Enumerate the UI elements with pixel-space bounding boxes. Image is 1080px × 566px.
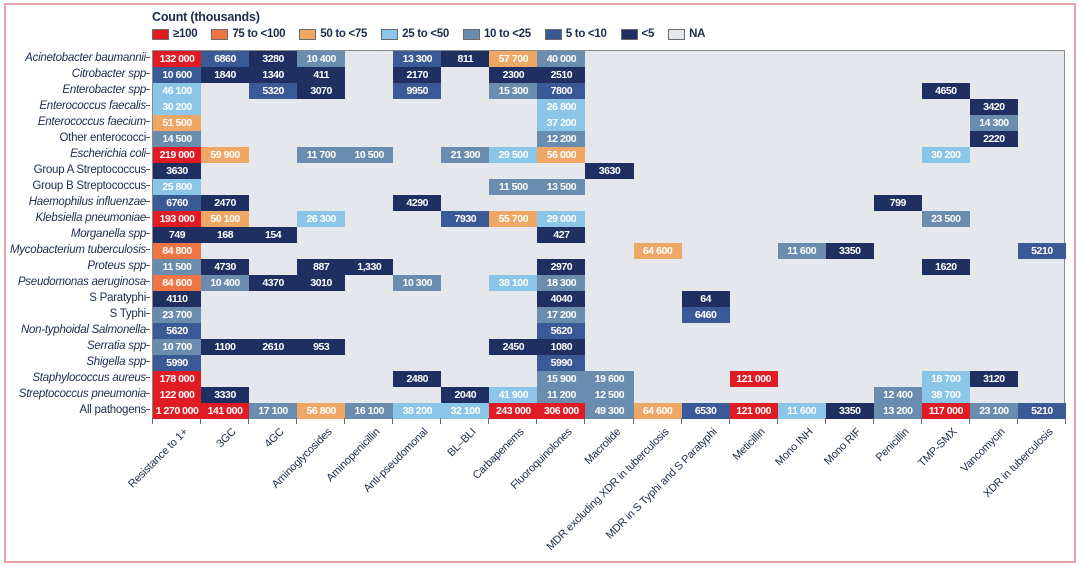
heatmap-cell[interactable]: 141 000 [201, 403, 249, 419]
heatmap-cell[interactable]: 10 700 [153, 339, 201, 355]
heatmap-cell[interactable]: 46 100 [153, 83, 201, 99]
heatmap-cell[interactable]: 11 200 [537, 387, 585, 403]
heatmap-cell[interactable]: 15 300 [489, 83, 537, 99]
column-tick-icon [296, 418, 297, 424]
row-label: S Paratyphi [89, 290, 146, 306]
heatmap-cell[interactable]: 6860 [201, 51, 249, 67]
heatmap-cell[interactable]: 122 000 [153, 387, 201, 403]
heatmap-cell[interactable]: 11 500 [153, 259, 201, 275]
row-label-text: Pseudomonas aeruginosa [18, 276, 146, 288]
row-label-text: Morganella spp [71, 228, 146, 240]
legend-item: 25 to <50 [381, 28, 449, 40]
heatmap-cell[interactable]: 219 000 [153, 147, 201, 163]
legend-label: 50 to <75 [320, 28, 367, 40]
heatmap-cell[interactable]: 5210 [1018, 403, 1066, 419]
heatmap-cell[interactable]: 1620 [922, 259, 970, 275]
heatmap-cell[interactable]: 4370 [249, 275, 297, 291]
heatmap-cell[interactable]: 2510 [537, 67, 585, 83]
heatmap-cell[interactable]: 5320 [249, 83, 297, 99]
heatmap-cell[interactable]: 2170 [393, 67, 441, 83]
heatmap-cell[interactable]: 2970 [537, 259, 585, 275]
heatmap-cell[interactable]: 11 500 [489, 179, 537, 195]
row-label-text: Citrobacter spp [72, 68, 146, 80]
heatmap-cell[interactable]: 2040 [441, 387, 489, 403]
column-tick-icon [633, 418, 634, 424]
row-tick-icon [146, 249, 150, 250]
row-tick-icon [146, 169, 150, 170]
figure-canvas: Count (thousands) ≥10075 to <10050 to <7… [0, 0, 1080, 566]
row-label-text: Staphylococcus aureus [32, 372, 146, 384]
row-label-axis: Acinetobacter baumanniiCitrobacter sppEn… [0, 50, 150, 418]
column-tick-marks [152, 418, 1065, 424]
heatmap-cell[interactable]: 427 [537, 227, 585, 243]
legend-label: 75 to <100 [232, 28, 285, 40]
heatmap-cell[interactable]: 4290 [393, 195, 441, 211]
heatmap-cell[interactable]: 1100 [201, 339, 249, 355]
heatmap-cell[interactable]: 19 600 [585, 371, 633, 387]
column-label: Vancomycin [959, 426, 1008, 475]
legend-label: <5 [642, 28, 655, 40]
heatmap-cell[interactable]: 23 700 [153, 307, 201, 323]
heatmap-cell[interactable]: 1840 [201, 67, 249, 83]
heatmap-cell[interactable]: 7930 [441, 211, 489, 227]
heatmap-cell[interactable]: 2220 [970, 131, 1018, 147]
legend-label: NA [689, 28, 705, 40]
column-label-axis: Resistance to 1+3GC4GCAminoglycosidesAmi… [0, 418, 1080, 558]
row-label: Other enterococci [59, 130, 146, 146]
row-tick-icon [146, 153, 150, 154]
heatmap-cell[interactable]: 3070 [297, 83, 345, 99]
column-tick-icon [536, 418, 537, 424]
heatmap-cell[interactable]: 26 800 [537, 99, 585, 115]
heatmap-cell[interactable]: 1080 [537, 339, 585, 355]
heatmap-cell[interactable]: 38 100 [489, 275, 537, 291]
heatmap-cell[interactable]: 3350 [826, 243, 874, 259]
legend-item: 10 to <25 [463, 28, 531, 40]
heatmap-cell[interactable]: 49 300 [585, 403, 633, 419]
legend-swatch-icon [299, 29, 316, 40]
heatmap-cell[interactable]: 30 200 [153, 99, 201, 115]
heatmap-cell[interactable]: 7800 [537, 83, 585, 99]
heatmap-cell[interactable]: 10 600 [153, 67, 201, 83]
row-label: Group A Streptococcus [34, 162, 146, 178]
legend-item: ≥100 [152, 28, 197, 40]
heatmap-cell[interactable]: 3630 [585, 163, 633, 179]
legend-items: ≥10075 to <10050 to <7525 to <5010 to <2… [152, 28, 1072, 40]
column-tick-icon [969, 418, 970, 424]
heatmap-cell[interactable]: 11 600 [778, 243, 826, 259]
heatmap-cell[interactable]: 16 100 [345, 403, 393, 419]
column-tick-icon [1065, 418, 1066, 424]
heatmap-cell[interactable]: 168 [201, 227, 249, 243]
heatmap-cell[interactable]: 3120 [970, 371, 1018, 387]
legend: Count (thousands) ≥10075 to <10050 to <7… [152, 10, 1072, 40]
column-label: Mono RIF [822, 426, 864, 468]
heatmap-cell[interactable]: 23 500 [922, 211, 970, 227]
heatmap-cell[interactable]: 32 100 [441, 403, 489, 419]
heatmap-cell[interactable]: 10 500 [345, 147, 393, 163]
heatmap-cell[interactable]: 3330 [201, 387, 249, 403]
heatmap-cell[interactable]: 50 100 [201, 211, 249, 227]
column-tick-icon [681, 418, 682, 424]
row-label-text: Serratia spp [87, 340, 146, 352]
heatmap-cell[interactable]: 154 [249, 227, 297, 243]
heatmap-cell[interactable]: 811 [441, 51, 489, 67]
row-label-text: Enterococcus faecalis [39, 100, 146, 112]
column-label: Penicillin [874, 426, 912, 464]
row-tick-icon [146, 137, 150, 138]
legend-item: <5 [621, 28, 655, 40]
column-label: TMP-SMX [916, 426, 959, 469]
heatmap-cell[interactable]: 30 200 [922, 147, 970, 163]
heatmap-cell[interactable]: 2300 [489, 67, 537, 83]
heatmap-cell[interactable]: 64 600 [634, 403, 682, 419]
row-tick-icon [146, 57, 150, 58]
row-label-text: Klebsiella pneumoniae [36, 212, 146, 224]
row-label: Morganella spp [71, 226, 146, 242]
heatmap-cell[interactable]: 3420 [970, 99, 1018, 115]
heatmap-cell[interactable]: 243 000 [489, 403, 537, 419]
heatmap-cell[interactable]: 749 [153, 227, 201, 243]
heatmap-cell[interactable]: 17 100 [249, 403, 297, 419]
column-label: BL–BLI [446, 426, 479, 459]
heatmap-cell[interactable]: 11 600 [778, 403, 826, 419]
column-tick-icon [825, 418, 826, 424]
row-label: Mycobacterium tuberculosis [10, 242, 146, 258]
heatmap-cell[interactable]: 799 [874, 195, 922, 211]
row-label: Pseudomonas aeruginosa [18, 274, 146, 290]
column-tick-icon [584, 418, 585, 424]
row-tick-icon [146, 329, 150, 330]
row-label-text: Group A Streptococcus [34, 164, 146, 176]
heatmap-cell[interactable]: 887 [297, 259, 345, 275]
column-label: Macrolide [582, 426, 623, 467]
column-label: 3GC [214, 426, 238, 450]
column-label: Meticillin [730, 426, 767, 463]
legend-label: ≥100 [173, 28, 197, 40]
column-label: Resistance to 1+ [126, 426, 190, 490]
heatmap-cell[interactable]: 84 800 [153, 243, 201, 259]
heatmap-cell[interactable]: 41 900 [489, 387, 537, 403]
heatmap-cell[interactable]: 411 [297, 67, 345, 83]
column-tick-icon [1017, 418, 1018, 424]
heatmap-cell[interactable]: 1,330 [345, 259, 393, 275]
row-label-text: Haemophilus influenzae [29, 196, 146, 208]
heatmap-cell[interactable]: 15 900 [537, 371, 585, 387]
column-tick-icon [344, 418, 345, 424]
heatmap-cell[interactable]: 2470 [201, 195, 249, 211]
heatmap-cell[interactable]: 12 400 [874, 387, 922, 403]
row-label: Enterococcus faecalis [39, 98, 146, 114]
heatmap-cell[interactable]: 37 200 [537, 115, 585, 131]
legend-swatch-icon [381, 29, 398, 40]
row-label: Non-typhoidal Salmonella [21, 322, 146, 338]
heatmap-cell[interactable]: 56 000 [537, 147, 585, 163]
heatmap-cell[interactable]: 51 500 [153, 115, 201, 131]
legend-item: NA [668, 28, 705, 40]
heatmap-cell[interactable]: 193 000 [153, 211, 201, 227]
heatmap-cell[interactable]: 11 700 [297, 147, 345, 163]
heatmap-cell[interactable]: 17 200 [537, 307, 585, 323]
column-tick-icon [152, 418, 153, 424]
row-label-text: Group B Streptococcus [32, 180, 146, 192]
heatmap-cell[interactable]: 4650 [922, 83, 970, 99]
row-tick-icon [146, 233, 150, 234]
heatmap-cell[interactable]: 3350 [826, 403, 874, 419]
heatmap-cell[interactable]: 121 000 [730, 403, 778, 419]
row-label: Enterococcus faecium [38, 114, 146, 130]
heatmap-cell[interactable]: 64 600 [634, 243, 682, 259]
row-tick-icon [146, 409, 150, 410]
heatmap-cell[interactable]: 29 000 [537, 211, 585, 227]
row-label: Escherichia coli [70, 146, 146, 162]
heatmap-cell[interactable]: 18 300 [537, 275, 585, 291]
row-label: Haemophilus influenzae [29, 194, 146, 210]
legend-label: 5 to <10 [566, 28, 607, 40]
heatmap-cell[interactable]: 9950 [393, 83, 441, 99]
heatmap-cell[interactable]: 29 500 [489, 147, 537, 163]
heatmap-cell[interactable]: 14 500 [153, 131, 201, 147]
row-label-text: S Paratyphi [89, 292, 146, 304]
heatmap-cell[interactable]: 178 000 [153, 371, 201, 387]
row-tick-icon [146, 345, 150, 346]
row-label: Citrobacter spp [72, 66, 146, 82]
heatmap-cell[interactable]: 5620 [153, 323, 201, 339]
row-tick-icon [146, 377, 150, 378]
row-tick-icon [146, 73, 150, 74]
heatmap-cell[interactable]: 12 200 [537, 131, 585, 147]
row-tick-icon [146, 185, 150, 186]
heatmap-grid: 132 0006860328010 40013 30081157 70040 0… [152, 50, 1065, 418]
row-tick-icon [146, 297, 150, 298]
heatmap-cell[interactable]: 23 100 [970, 403, 1018, 419]
heatmap-cell[interactable]: 56 800 [297, 403, 345, 419]
column-tick-icon [488, 418, 489, 424]
heatmap-cell[interactable]: 38 200 [393, 403, 441, 419]
column-tick-icon [200, 418, 201, 424]
row-tick-icon [146, 313, 150, 314]
row-label-text: Enterococcus faecium [38, 116, 146, 128]
row-label-text: Proteus spp [87, 260, 146, 272]
row-label-text: Acinetobacter baumannii [25, 52, 146, 64]
row-label: Enterobacter spp [62, 82, 146, 98]
heatmap-cell[interactable]: 84 600 [153, 275, 201, 291]
heatmap-cell[interactable]: 1 270 000 [153, 403, 201, 419]
column-tick-icon [921, 418, 922, 424]
column-tick-icon [873, 418, 874, 424]
heatmap-cell[interactable]: 10 400 [297, 51, 345, 67]
row-tick-icon [146, 105, 150, 106]
heatmap-cell[interactable]: 3630 [153, 163, 201, 179]
heatmap-cell[interactable]: 1340 [249, 67, 297, 83]
row-tick-icon [146, 201, 150, 202]
column-tick-icon [777, 418, 778, 424]
column-label: 4GC [263, 426, 287, 450]
heatmap-cell[interactable]: 3280 [249, 51, 297, 67]
legend-item: 75 to <100 [211, 28, 285, 40]
heatmap-cell[interactable]: 132 000 [153, 51, 201, 67]
row-label: Serratia spp [87, 338, 146, 354]
heatmap-cell[interactable]: 4110 [153, 291, 201, 307]
row-label: Klebsiella pneumoniae [36, 210, 146, 226]
row-label-text: All pathogens [80, 404, 146, 416]
heatmap-cell[interactable]: 117 000 [922, 403, 970, 419]
heatmap-cell[interactable]: 953 [297, 339, 345, 355]
heatmap-cell[interactable]: 3010 [297, 275, 345, 291]
legend-swatch-icon [668, 29, 685, 40]
heatmap-cell[interactable]: 26 300 [297, 211, 345, 227]
row-label-text: Mycobacterium tuberculosis [10, 244, 146, 256]
heatmap-cell[interactable]: 38 700 [922, 387, 970, 403]
row-tick-icon [146, 217, 150, 218]
row-tick-icon [146, 393, 150, 394]
row-tick-icon [146, 265, 150, 266]
legend-swatch-icon [621, 29, 638, 40]
heatmap-cell[interactable]: 5990 [153, 355, 201, 371]
legend-swatch-icon [152, 29, 169, 40]
row-tick-icon [146, 89, 150, 90]
legend-swatch-icon [463, 29, 480, 40]
row-label: All pathogens [80, 402, 146, 418]
heatmap-cell[interactable]: 2450 [489, 339, 537, 355]
row-label-text: Non-typhoidal Salmonella [21, 324, 146, 336]
legend-swatch-icon [211, 29, 228, 40]
heatmap-cell[interactable]: 14 300 [970, 115, 1018, 131]
heatmap-cell[interactable]: 18 700 [922, 371, 970, 387]
legend-swatch-icon [545, 29, 562, 40]
heatmap-cell[interactable]: 121 000 [730, 371, 778, 387]
row-label-text: Enterobacter spp [62, 84, 146, 96]
heatmap-cell[interactable]: 6760 [153, 195, 201, 211]
column-tick-icon [248, 418, 249, 424]
heatmap-cell[interactable]: 10 300 [393, 275, 441, 291]
heatmap-cell[interactable]: 13 300 [393, 51, 441, 67]
row-tick-icon [146, 121, 150, 122]
heatmap-cell[interactable]: 21 300 [441, 147, 489, 163]
row-label: Staphylococcus aureus [32, 370, 146, 386]
row-tick-icon [146, 281, 150, 282]
legend-label: 10 to <25 [484, 28, 531, 40]
heatmap-cell[interactable]: 6460 [682, 307, 730, 323]
heatmap-cell[interactable]: 10 400 [201, 275, 249, 291]
heatmap-cell[interactable]: 306 000 [537, 403, 585, 419]
row-label: Streptococcus pneumonia [19, 386, 146, 402]
row-label: Proteus spp [87, 258, 146, 274]
column-label: Mono INH [773, 426, 815, 468]
heatmap-cell[interactable]: 5990 [537, 355, 585, 371]
heatmap-cell[interactable]: 4730 [201, 259, 249, 275]
heatmap-cell[interactable]: 64 [682, 291, 730, 307]
column-tick-icon [440, 418, 441, 424]
row-label: S Typhi [110, 306, 146, 322]
heatmap-cell[interactable]: 55 700 [489, 211, 537, 227]
heatmap-cell[interactable]: 5210 [1018, 243, 1066, 259]
row-label: Acinetobacter baumannii [25, 50, 146, 66]
legend-item: 50 to <75 [299, 28, 367, 40]
legend-label: 25 to <50 [402, 28, 449, 40]
row-label-text: Escherichia coli [70, 148, 146, 160]
heatmap-cell[interactable]: 6530 [682, 403, 730, 419]
heatmap-cell[interactable]: 2610 [249, 339, 297, 355]
column-tick-icon [392, 418, 393, 424]
row-label-text: S Typhi [110, 308, 146, 320]
heatmap-cell[interactable]: 13 200 [874, 403, 922, 419]
row-label: Group B Streptococcus [32, 178, 146, 194]
heatmap-cell[interactable]: 59 900 [201, 147, 249, 163]
legend-item: 5 to <10 [545, 28, 607, 40]
row-label-text: Streptococcus pneumonia [19, 388, 146, 400]
heatmap-cell[interactable]: 40 000 [537, 51, 585, 67]
row-label-text: Other enterococci [59, 132, 146, 144]
heatmap-cell[interactable]: 5620 [537, 323, 585, 339]
heatmap-cell[interactable]: 12 500 [585, 387, 633, 403]
row-label-text: Shigella spp [86, 356, 146, 368]
row-label: Shigella spp [86, 354, 146, 370]
legend-title: Count (thousands) [152, 10, 1072, 24]
heatmap-cell[interactable]: 4040 [537, 291, 585, 307]
row-tick-icon [146, 361, 150, 362]
heatmap-cell[interactable]: 13 500 [537, 179, 585, 195]
heatmap-cell[interactable]: 2480 [393, 371, 441, 387]
heatmap-cell[interactable]: 25 800 [153, 179, 201, 195]
column-tick-icon [729, 418, 730, 424]
heatmap-cell[interactable]: 57 700 [489, 51, 537, 67]
